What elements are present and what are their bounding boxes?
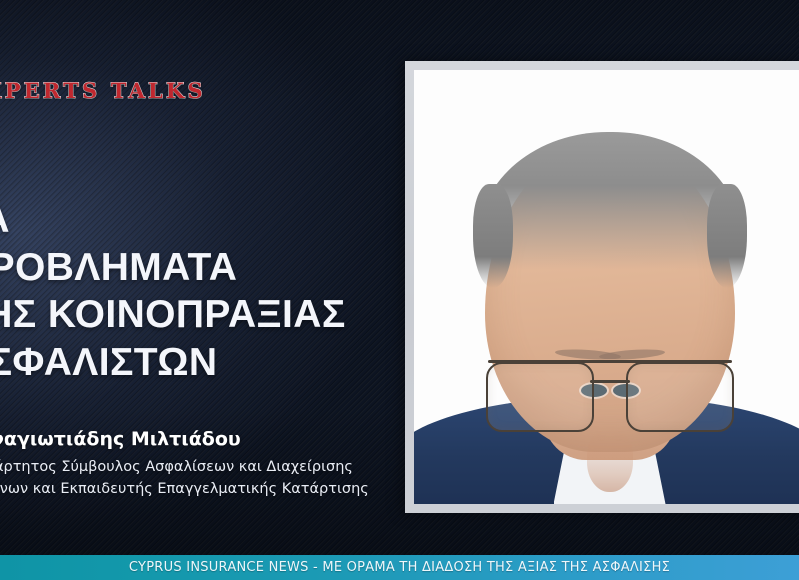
glasses-bridge — [590, 380, 630, 383]
video-slide: EXPERTS TALKS ΤΑ ΠΡΟΒΛΗΜΑΤΑ ΤΗΣ ΚΟΙΝΟΠΡΑ… — [0, 0, 799, 580]
speaker-role-line-2: Κινδύνων και Εκπαιδευτής Επαγγελματικής … — [0, 478, 369, 500]
nose — [587, 430, 633, 492]
kicker-experts-talks: EXPERTS TALKS — [0, 78, 206, 103]
speaker-role: Ανεξάρτητος Σύμβουλος Ασφαλίσεων και Δια… — [0, 456, 369, 501]
speaker-role-line-1: Ανεξάρτητος Σύμβουλος Ασφαλίσεων και Δια… — [0, 456, 369, 478]
eyeglasses — [486, 358, 734, 432]
bottom-ticker-bar: CYPRUS INSURANCE NEWS - ΜΕ ΟΡΑΜΑ ΤΗ ΔΙΑΔ… — [0, 555, 799, 580]
glasses-lens-left — [486, 362, 594, 432]
glasses-lens-right — [626, 362, 734, 432]
portrait-frame — [405, 61, 799, 513]
ticker-text: CYPRUS INSURANCE NEWS - ΜΕ ΟΡΑΜΑ ΤΗ ΔΙΑΔ… — [129, 560, 670, 575]
portrait-photo — [414, 70, 799, 504]
speaker-name: Παναγιωτιάδης Μιλτιάδου — [0, 428, 241, 450]
hair — [479, 132, 741, 282]
